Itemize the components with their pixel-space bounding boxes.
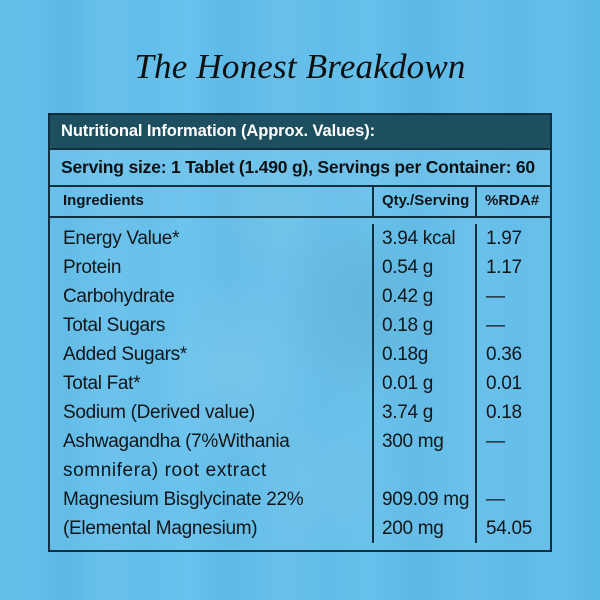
cell-rda: 0.01: [475, 369, 550, 398]
cell-ingredient: Energy Value*: [50, 224, 372, 253]
cell-rda: 54.05: [475, 514, 550, 543]
table-body: Energy Value* 3.94 kcal 1.97 Protein 0.5…: [50, 218, 550, 550]
column-header-rda: %RDA#: [475, 187, 550, 216]
serving-size-row: Serving size: 1 Tablet (1.490 g), Servin…: [50, 150, 550, 187]
table-row: Protein 0.54 g 1.17: [50, 253, 550, 282]
cell-ingredient: Total Sugars: [50, 311, 372, 340]
cell-qty: 0.18g: [372, 340, 475, 369]
cell-rda: —: [475, 427, 550, 485]
cell-qty: 0.54 g: [372, 253, 475, 282]
cell-ingredient-line2: somnifera) root extract: [63, 456, 372, 485]
table-title-row: Nutritional Information (Approx. Values)…: [50, 115, 550, 150]
cell-rda: —: [475, 282, 550, 311]
cell-ingredient-line1: Ashwagandha (7%Withania: [63, 427, 372, 456]
table-row: Ashwagandha (7%Withania somnifera) root …: [50, 427, 550, 485]
cell-qty: 300 mg: [372, 427, 475, 485]
cell-rda: 1.17: [475, 253, 550, 282]
cell-qty: 3.94 kcal: [372, 224, 475, 253]
cell-ingredient: (Elemental Magnesium): [50, 514, 372, 543]
table-row: Carbohydrate 0.42 g —: [50, 282, 550, 311]
table-row: Total Fat* 0.01 g 0.01: [50, 369, 550, 398]
cell-rda: —: [475, 485, 550, 514]
cell-ingredient: Carbohydrate: [50, 282, 372, 311]
table-row: Sodium (Derived value) 3.74 g 0.18: [50, 398, 550, 427]
cell-qty: 0.01 g: [372, 369, 475, 398]
cell-rda: 0.18: [475, 398, 550, 427]
table-row: Total Sugars 0.18 g —: [50, 311, 550, 340]
cell-ingredient: Magnesium Bisglycinate 22%: [50, 485, 372, 514]
cell-ingredient: Ashwagandha (7%Withania somnifera) root …: [50, 427, 372, 485]
cell-ingredient: Protein: [50, 253, 372, 282]
table-row: Added Sugars* 0.18g 0.36: [50, 340, 550, 369]
nutrition-table: Nutritional Information (Approx. Values)…: [48, 113, 552, 552]
cell-qty: 909.09 mg: [372, 485, 475, 514]
table-row: Magnesium Bisglycinate 22% 909.09 mg —: [50, 485, 550, 514]
cell-ingredient: Added Sugars*: [50, 340, 372, 369]
table-row: Energy Value* 3.94 kcal 1.97: [50, 224, 550, 253]
column-header-qty: Qty./Serving: [372, 187, 475, 216]
cell-ingredient: Total Fat*: [50, 369, 372, 398]
column-header-row: Ingredients Qty./Serving %RDA#: [50, 187, 550, 218]
cell-qty: 3.74 g: [372, 398, 475, 427]
cell-rda: 0.36: [475, 340, 550, 369]
cell-ingredient: Sodium (Derived value): [50, 398, 372, 427]
cell-qty: 0.42 g: [372, 282, 475, 311]
column-header-ingredients: Ingredients: [50, 187, 372, 216]
cell-qty: 200 mg: [372, 514, 475, 543]
cell-rda: —: [475, 311, 550, 340]
nutrition-label-page: The Honest Breakdown Nutritional Informa…: [0, 0, 600, 600]
cell-rda: 1.97: [475, 224, 550, 253]
page-title: The Honest Breakdown: [0, 47, 600, 87]
table-row: (Elemental Magnesium) 200 mg 54.05: [50, 514, 550, 543]
cell-qty: 0.18 g: [372, 311, 475, 340]
